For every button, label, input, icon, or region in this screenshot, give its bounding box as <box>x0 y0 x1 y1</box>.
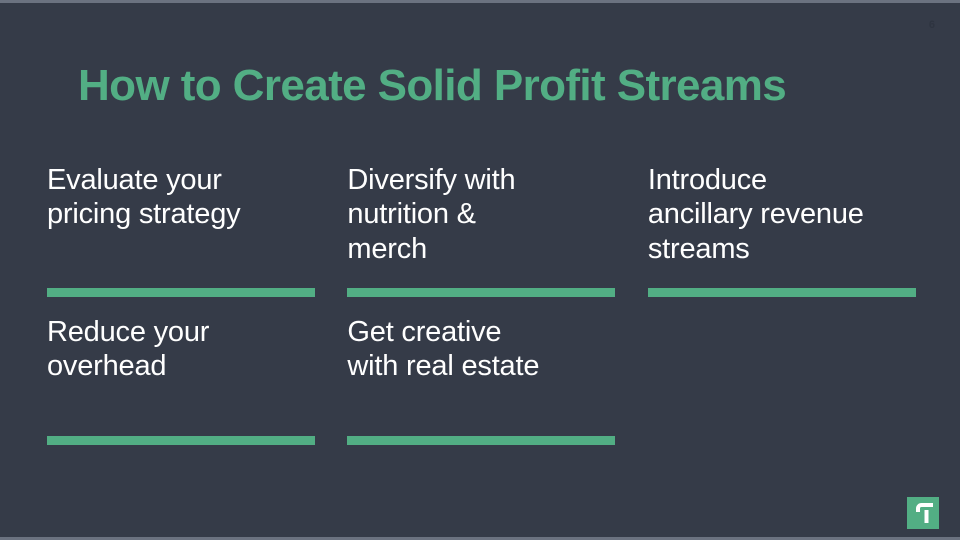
item-label: Get creative with real estate <box>347 315 610 384</box>
item-label: Diversify with nutrition & merch <box>347 163 610 266</box>
item-line: merch <box>347 233 427 265</box>
item-line: Introduce <box>648 164 767 196</box>
item-line: pricing strategy <box>47 198 240 230</box>
item-line: ancillary revenue <box>648 198 864 230</box>
g-hook-mark-icon <box>907 497 939 529</box>
item-line: nutrition & <box>347 198 475 230</box>
item-card-creative-real-estate: Get creative with real estate <box>347 315 610 445</box>
item-underline-bar <box>347 288 615 297</box>
item-card-evaluate-pricing: Evaluate your pricing strategy <box>47 163 310 315</box>
items-row-2: Reduce your overhead Get creative with r… <box>47 315 927 445</box>
item-line: Get creative <box>347 316 501 348</box>
slide-canvas: 6 How to Create Solid Profit Streams Eva… <box>0 0 960 540</box>
items-row-1: Evaluate your pricing strategy Diversify… <box>47 163 927 315</box>
slide-title: How to Create Solid Profit Streams <box>78 61 898 110</box>
items-grid: Evaluate your pricing strategy Diversify… <box>47 163 927 445</box>
item-line: with real estate <box>347 350 539 382</box>
item-line: Diversify with <box>347 164 515 196</box>
item-label: Evaluate your pricing strategy <box>47 163 310 232</box>
item-underline-bar <box>347 436 615 445</box>
item-card-reduce-overhead: Reduce your overhead <box>47 315 310 445</box>
item-label: Reduce your overhead <box>47 315 310 384</box>
item-line: streams <box>648 233 750 265</box>
item-underline-bar <box>47 288 315 297</box>
item-label: Introduce ancillary revenue streams <box>648 163 927 266</box>
item-card-ancillary-revenue: Introduce ancillary revenue streams <box>648 163 927 315</box>
item-underline-bar <box>648 288 916 297</box>
item-line: overhead <box>47 350 166 382</box>
item-underline-bar <box>47 436 315 445</box>
item-line: Evaluate your <box>47 164 222 196</box>
item-line: Reduce your <box>47 316 209 348</box>
brand-logo <box>907 497 939 529</box>
slide-number: 6 <box>929 20 935 31</box>
item-card-diversify-nutrition: Diversify with nutrition & merch <box>347 163 610 315</box>
